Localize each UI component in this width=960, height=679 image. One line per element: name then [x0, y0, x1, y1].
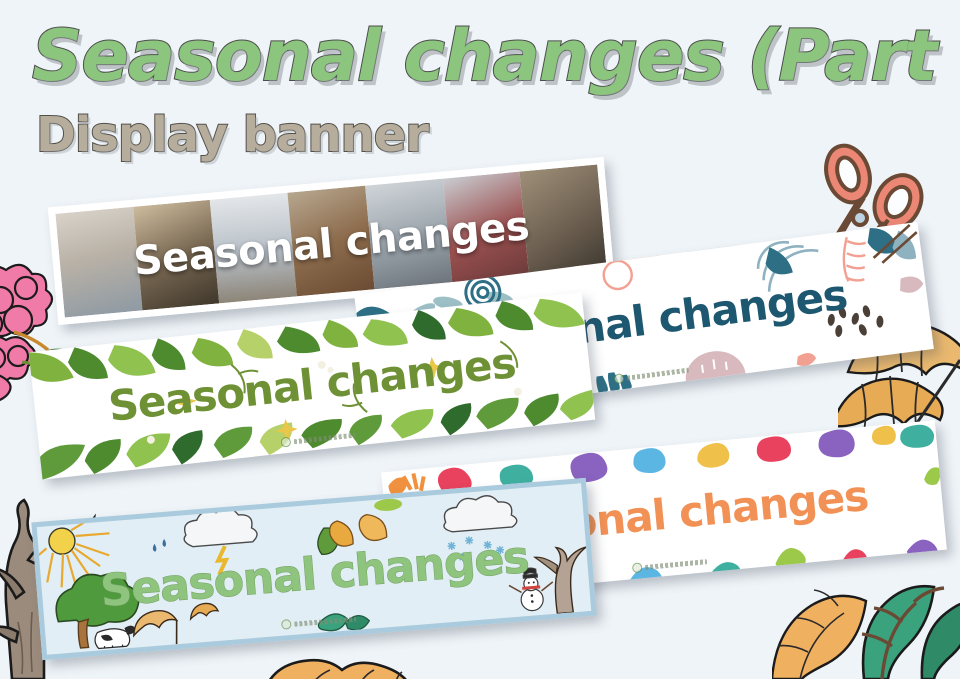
twinkl-logo-icon [631, 562, 642, 573]
raindrops-icon [152, 539, 166, 552]
banner-tropical-leaves[interactable]: Seasonal changes [29, 292, 596, 479]
green-leaves-icon [772, 560, 960, 679]
banner-weather-clipart[interactable]: Seasonal changes [31, 478, 596, 660]
twinkl-logo-icon [613, 373, 624, 384]
autumn-maple-leaf-icon [246, 636, 446, 679]
twinkl-logo-icon [280, 619, 291, 630]
poster-canvas: Seasonal changes [0, 0, 960, 679]
page-title: Seasonal changes (Part 1) [32, 18, 960, 94]
twinkl-logo-icon [280, 437, 291, 448]
page-subtitle: Display banner [36, 108, 428, 162]
